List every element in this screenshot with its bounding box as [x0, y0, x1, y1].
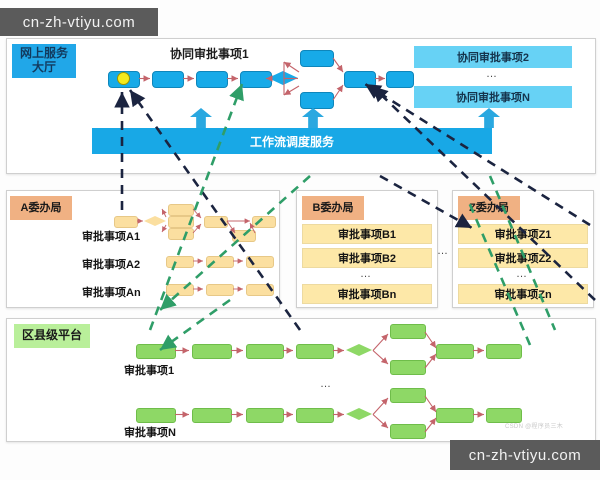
coapproval-ellipsis: …	[486, 68, 498, 80]
tag-online-service-hall: 网上服务 大厅	[12, 44, 76, 78]
county1-node-3	[246, 344, 284, 359]
countyn-node-4	[296, 408, 334, 423]
tag-committee-z: Z委办局	[458, 196, 520, 220]
watermark-top: cn-zh-vtiyu.com	[0, 8, 158, 36]
an-node-2	[206, 284, 234, 296]
label-approval-an: 审批事项An	[82, 284, 141, 300]
diagram-canvas: 网上服务 大厅 协同审批事项1 协同审批事项2 … 协同审批事项N 工作流调度服…	[0, 0, 600, 480]
a1-branch-bottom	[168, 228, 194, 240]
flow-node-end	[386, 71, 414, 88]
countyn-node-1	[136, 408, 176, 423]
countyn-node-merge	[436, 408, 474, 423]
countyn-branch-top	[390, 388, 426, 403]
tag-county-platform: 区县级平台	[14, 324, 90, 348]
committee-b-ellipsis: …	[360, 268, 372, 280]
countyn-node-2	[192, 408, 232, 423]
label-approval-a2: 审批事项A2	[82, 256, 140, 272]
committee-z-ellipsis: …	[516, 268, 528, 280]
start-dot-icon	[117, 72, 130, 85]
county1-node-1	[136, 344, 176, 359]
label-approval-a1: 审批事项A1	[82, 228, 140, 244]
tag-committee-a: A委办局	[10, 196, 72, 220]
county1-branch-top	[390, 324, 426, 339]
county1-branch-bottom	[390, 360, 426, 375]
watermark-csdn: CSDN @程序员三木	[505, 421, 563, 430]
workflow-scheduler-bar[interactable]: 工作流调度服务	[92, 128, 492, 154]
flow-branch-top	[300, 50, 334, 67]
approval-item-b2[interactable]: 审批事项B2	[302, 248, 432, 268]
tag-committee-b: B委办局	[302, 196, 364, 220]
an-node-1	[166, 284, 194, 296]
flow-title-coapproval-1: 协同审批事项1	[170, 45, 249, 62]
flow-node-4	[240, 71, 272, 88]
approval-item-bn[interactable]: 审批事项Bn	[302, 284, 432, 304]
county1-node-2	[192, 344, 232, 359]
county1-node-4	[296, 344, 334, 359]
approval-item-zn[interactable]: 审批事项Zn	[458, 284, 588, 304]
a2-node-1	[166, 256, 194, 268]
county1-node-merge	[436, 344, 474, 359]
committee-gap-ellipsis: …	[437, 245, 449, 257]
a2-node-3	[246, 256, 274, 268]
coapproval-item-n[interactable]: 协同审批事项N	[414, 86, 572, 108]
label-county-approval-1: 审批事项1	[124, 362, 174, 378]
a1-node-1	[114, 216, 138, 228]
a1-node-merge	[204, 216, 228, 228]
county-ellipsis: …	[320, 378, 332, 390]
coapproval-item-2[interactable]: 协同审批事项2	[414, 46, 572, 68]
approval-item-b1[interactable]: 审批事项B1	[302, 224, 432, 244]
a1-node-end	[252, 216, 276, 228]
a1-node-mid	[168, 216, 194, 228]
a1-node-lower	[232, 230, 256, 242]
countyn-branch-bottom	[390, 424, 426, 439]
approval-item-z1[interactable]: 审批事项Z1	[458, 224, 588, 244]
flow-node-merge	[344, 71, 376, 88]
flow-node-2	[152, 71, 184, 88]
a2-node-2	[206, 256, 234, 268]
approval-item-z2[interactable]: 审批事项Z2	[458, 248, 588, 268]
tag-online-line2: 大厅	[32, 60, 56, 74]
a1-branch-top	[168, 204, 194, 216]
watermark-bottom: cn-zh-vtiyu.com	[450, 440, 600, 470]
tag-online-line1: 网上服务	[20, 46, 68, 60]
an-node-3	[246, 284, 274, 296]
label-county-approval-n: 审批事项N	[124, 424, 176, 440]
county1-node-end	[486, 344, 522, 359]
countyn-node-3	[246, 408, 284, 423]
flow-branch-bottom	[300, 92, 334, 109]
flow-node-3	[196, 71, 228, 88]
